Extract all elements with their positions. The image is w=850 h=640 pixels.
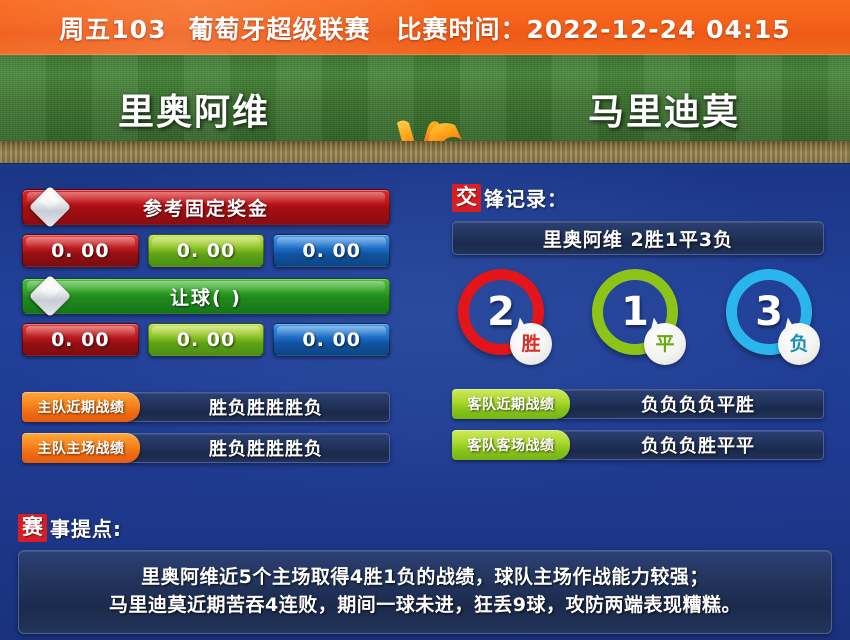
gloss [152, 237, 261, 248]
tips-line-1: 里奥阿维近5个主场取得4胜1负的战绩，球队主场作战能力较强； [37, 564, 813, 592]
home-recent-form-tag: 主队近期战绩 [22, 392, 140, 422]
away-away-form-row: 客队客场战绩 负负负胜平平 [452, 430, 824, 460]
h2h-draw-badge: 平 [644, 323, 686, 365]
kickoff-time-label: 比赛时间： [396, 10, 526, 46]
gloss [277, 237, 386, 248]
home-home-form-value: 胜负胜胜胜负 [128, 433, 390, 463]
home-form-group: 主队近期战绩 胜负胜胜胜负 主队主场战绩 胜负胜胜胜负 [22, 392, 390, 463]
away-recent-form-tag: 客队近期战绩 [452, 389, 570, 419]
fixed-odds-row: 0. 00 0. 00 0. 00 [22, 234, 390, 267]
team-banner: 里奥阿维 马里迪莫 [0, 55, 850, 163]
away-away-form-tag: 客队客场战绩 [452, 430, 570, 460]
away-recent-form-row: 客队近期战绩 负负负负平胜 [452, 389, 824, 419]
handicap-title: 让球( ) [170, 283, 242, 310]
header-content: 周五103 葡萄牙超级联赛 比赛时间： 2022-12-24 04:15 [59, 10, 790, 46]
dirt-strip [0, 141, 850, 163]
match-detail-body: 参考固定奖金 0. 00 0. 00 0. 00 让球( ) [0, 163, 850, 640]
h2h-chip: 交 [452, 184, 481, 212]
away-form-group: 客队近期战绩 负负负负平胜 客队客场战绩 负负负胜平平 [452, 389, 824, 460]
handicap-odds-row: 0. 00 0. 00 0. 00 [22, 323, 390, 356]
h2h-section-label: 交 锋记录： [452, 183, 824, 212]
league-name: 葡萄牙超级联赛 [188, 10, 370, 46]
h2h-title: 锋记录： [484, 183, 568, 212]
fixed-odds-lose-button[interactable]: 0. 00 [273, 234, 390, 267]
tips-title: 事提点: [50, 513, 122, 542]
gloss [152, 326, 261, 337]
handicap-odds-win-button[interactable]: 0. 00 [22, 323, 139, 356]
h2h-lose-count: 3 [755, 292, 783, 332]
tips-line-2: 马里迪莫近期苦吞4连败，期间一球未进，狂丢9球，攻防两端表现糟糕。 [37, 592, 813, 620]
home-home-form-row: 主队主场战绩 胜负胜胜胜负 [22, 433, 390, 463]
handicap-title-bar: 让球( ) [22, 278, 390, 314]
h2h-draw-ring: 1 平 [592, 269, 678, 355]
gloss [26, 326, 135, 337]
gloss [26, 237, 135, 248]
match-tips-section: 赛 事提点: 里奥阿维近5个主场取得4胜1负的战绩，球队主场作战能力较强； 马里… [18, 513, 832, 634]
away-team-name: 马里迪莫 [588, 83, 740, 135]
match-header-bar: 周五103 葡萄牙超级联赛 比赛时间： 2022-12-24 04:15 [0, 0, 850, 55]
match-round-number: 周五103 [59, 10, 166, 46]
h2h-draw-count: 1 [621, 292, 649, 332]
diamond-icon [29, 186, 71, 228]
h2h-summary-bar: 里奥阿维 2胜1平3负 [452, 221, 824, 255]
h2h-rings: 2 胜 1 平 3 负 [452, 269, 824, 355]
fixed-bonus-title: 参考固定奖金 [143, 194, 269, 221]
home-team-name: 里奥阿维 [118, 83, 270, 135]
handicap-odds-lose-button[interactable]: 0. 00 [273, 323, 390, 356]
gloss [277, 326, 386, 337]
odds-panel: 参考固定奖金 0. 00 0. 00 0. 00 让球( ) [22, 189, 390, 463]
away-recent-form-value: 负负负负平胜 [558, 389, 824, 419]
away-away-form-value: 负负负胜平平 [558, 430, 824, 460]
tips-box: 里奥阿维近5个主场取得4胜1负的战绩，球队主场作战能力较强； 马里迪莫近期苦吞4… [18, 550, 832, 634]
head-to-head-panel: 交 锋记录： 里奥阿维 2胜1平3负 2 胜 1 平 3 负 [452, 183, 824, 460]
fixed-bonus-title-bar: 参考固定奖金 [22, 189, 390, 225]
fixed-odds-win-button[interactable]: 0. 00 [22, 234, 139, 267]
h2h-lose-badge: 负 [778, 323, 820, 365]
handicap-odds-draw-button[interactable]: 0. 00 [148, 323, 265, 356]
h2h-lose-ring: 3 负 [726, 269, 812, 355]
kickoff-time-value: 2022-12-24 04:15 [527, 15, 791, 44]
diamond-icon [29, 275, 71, 317]
tips-section-label: 赛 事提点: [18, 513, 832, 542]
home-recent-form-row: 主队近期战绩 胜负胜胜胜负 [22, 392, 390, 422]
tips-chip: 赛 [18, 514, 47, 542]
fixed-odds-draw-button[interactable]: 0. 00 [148, 234, 265, 267]
divider [0, 163, 850, 166]
h2h-win-count: 2 [487, 292, 515, 332]
home-home-form-tag: 主队主场战绩 [22, 433, 140, 463]
h2h-win-badge: 胜 [510, 323, 552, 365]
home-recent-form-value: 胜负胜胜胜负 [128, 392, 390, 422]
h2h-win-ring: 2 胜 [458, 269, 544, 355]
